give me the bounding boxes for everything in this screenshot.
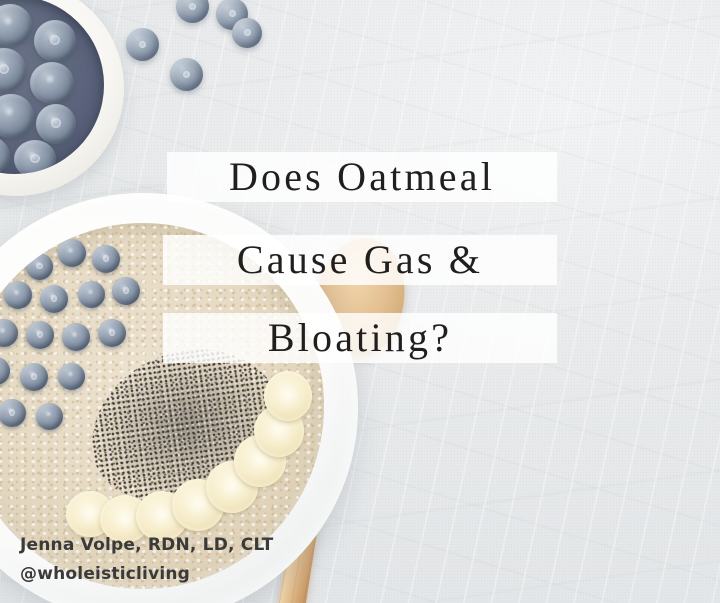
- blueberry: [58, 239, 86, 267]
- blueberry: [26, 253, 53, 280]
- blueberry-bowl-interior: [0, 0, 104, 174]
- blueberry: [26, 321, 54, 349]
- banana-slice: [264, 371, 312, 421]
- blueberry: [36, 403, 63, 430]
- blueberry: [62, 323, 90, 351]
- headline-band-1: Does Oatmeal: [167, 152, 557, 202]
- blueberry: [0, 48, 26, 92]
- blueberry: [78, 281, 105, 308]
- headline-line-3: Bloating?: [163, 318, 557, 358]
- pin-graphic-canvas: Does Oatmeal Cause Gas & Bloating? Jenna…: [0, 0, 720, 603]
- headline-line-1: Does Oatmeal: [167, 157, 557, 197]
- author-name: Jenna Volpe, RDN, LD, CLT: [20, 535, 273, 555]
- blueberry: [34, 20, 76, 62]
- blueberry: [40, 285, 68, 313]
- blueberry: [36, 104, 76, 144]
- blueberry: [20, 363, 48, 391]
- author-handle: @wholeisticliving: [20, 564, 190, 584]
- blueberry: [112, 277, 140, 305]
- blueberry: [0, 136, 10, 174]
- blueberry: [0, 94, 34, 138]
- blueberry-loose: [126, 28, 159, 61]
- blueberry: [98, 319, 126, 347]
- headline-line-2: Cause Gas &: [163, 240, 557, 280]
- blueberry: [0, 4, 32, 46]
- blueberry-loose: [170, 58, 203, 91]
- headline-band-2: Cause Gas &: [163, 235, 557, 285]
- blueberry: [30, 62, 74, 104]
- blueberry: [92, 245, 120, 273]
- blueberry: [14, 140, 56, 174]
- blueberry: [4, 281, 32, 309]
- headline-band-3: Bloating?: [163, 313, 557, 363]
- blueberry: [58, 363, 85, 390]
- blueberry-loose: [232, 18, 262, 48]
